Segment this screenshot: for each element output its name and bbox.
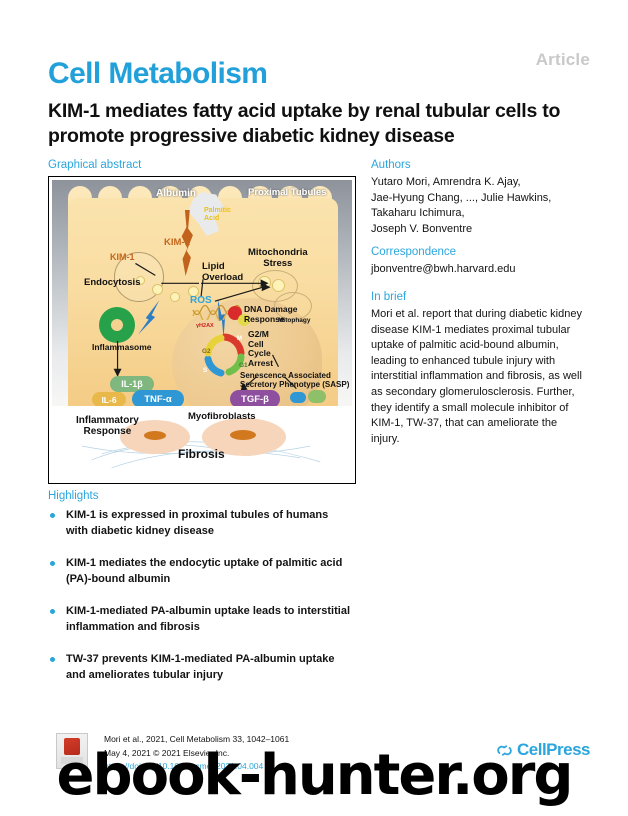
highlight-text: KIM-1 is expressed in proximal tubules o… [66, 509, 328, 537]
list-item: KIM-1 is expressed in proximal tubules o… [48, 508, 353, 540]
bullet-icon [50, 657, 55, 662]
in-brief-section: In brief Mori et al. report that during … [371, 291, 587, 447]
ga-label-albumin: Albumin [156, 188, 196, 199]
ga-label-fibrosis: Fibrosis [178, 448, 225, 461]
graphical-abstract-canvas: M G1 S G2 [52, 180, 352, 480]
ga-label-myofibroblasts: Myofibroblasts [188, 412, 256, 423]
bullet-icon [50, 513, 55, 518]
graphical-abstract-heading: Graphical abstract [48, 159, 141, 171]
ga-label-dna-damage-response: DNA Damage Response [244, 305, 298, 324]
list-item: KIM-1-mediated PA-albumin uptake leads t… [48, 604, 353, 636]
graphical-abstract-figure: M G1 S G2 [48, 176, 356, 484]
highlight-text: KIM-1 mediates the endocytic uptake of p… [66, 557, 342, 585]
article-type-tag: Article [536, 50, 590, 70]
correspondence-email[interactable]: jbonventre@bwh.harvard.edu [371, 262, 587, 278]
page-title: KIM-1 mediates fatty acid uptake by rena… [48, 99, 588, 148]
article-cover-page: Article Cell Metabolism KIM-1 mediates f… [0, 0, 628, 816]
highlights-list: KIM-1 is expressed in proximal tubules o… [48, 508, 353, 700]
authors-list: Yutaro Mori, Amrendra K. Ajay, Jae-Hyung… [371, 175, 587, 237]
bullet-icon [50, 609, 55, 614]
myofibroblast-nucleus [230, 430, 256, 440]
sasp-factor-dot-green [308, 390, 326, 403]
correspondence-heading: Correspondence [371, 246, 587, 258]
ga-label-mitochondria-stress: Mitochondria Stress [248, 248, 308, 269]
in-brief-text: Mori et al. report that during diabetic … [371, 307, 587, 447]
list-item: TW-37 prevents KIM-1-mediated PA-albumin… [48, 652, 353, 684]
authors-section: Authors Yutaro Mori, Amrendra K. Ajay, J… [371, 159, 587, 237]
ga-label-proximal-tubules: Proximal Tubules [248, 188, 326, 199]
in-brief-heading: In brief [371, 291, 587, 303]
highlight-text: TW-37 prevents KIM-1-mediated PA-albumin… [66, 653, 335, 681]
cytokine-badge-il6: IL-6 [92, 392, 126, 407]
ga-label-palmitic-acid: Palmitic Acid [204, 207, 231, 223]
ga-label-kim1-endocytosis: KIM-1 [110, 252, 135, 262]
bullet-icon [50, 561, 55, 566]
ga-label-lipid-overload: Lipid Overload [202, 262, 243, 283]
ga-label-inflammasome: Inflammasome [92, 343, 152, 353]
highlights-heading: Highlights [48, 490, 99, 502]
sasp-factor-dot-blue [290, 392, 306, 403]
ga-label-g2m-arrest: G2/M Cell Cycle Arrest [248, 330, 273, 368]
myofibroblast-nucleus [144, 431, 166, 440]
ga-label-yh2ax: γH2AX [196, 323, 214, 329]
authors-heading: Authors [371, 159, 587, 171]
ga-label-endocytosis: Endocytosis [84, 278, 141, 289]
journal-title: Cell Metabolism [48, 57, 267, 91]
ga-label-kim1-receptor: KIM-1 [164, 238, 190, 249]
correspondence-section: Correspondence jbonventre@bwh.harvard.ed… [371, 246, 587, 278]
ga-label-sasp: Senescence Associated Secretory Phenotyp… [240, 372, 349, 390]
list-item: KIM-1 mediates the endocytic uptake of p… [48, 556, 353, 588]
ga-label-ros: ROS [190, 295, 212, 306]
highlight-text: KIM-1-mediated PA-albumin uptake leads t… [66, 605, 350, 633]
ga-label-inflammatory-response: Inflammatory Response [76, 415, 139, 437]
watermark-overlay: ebook-hunter.org [0, 748, 628, 804]
